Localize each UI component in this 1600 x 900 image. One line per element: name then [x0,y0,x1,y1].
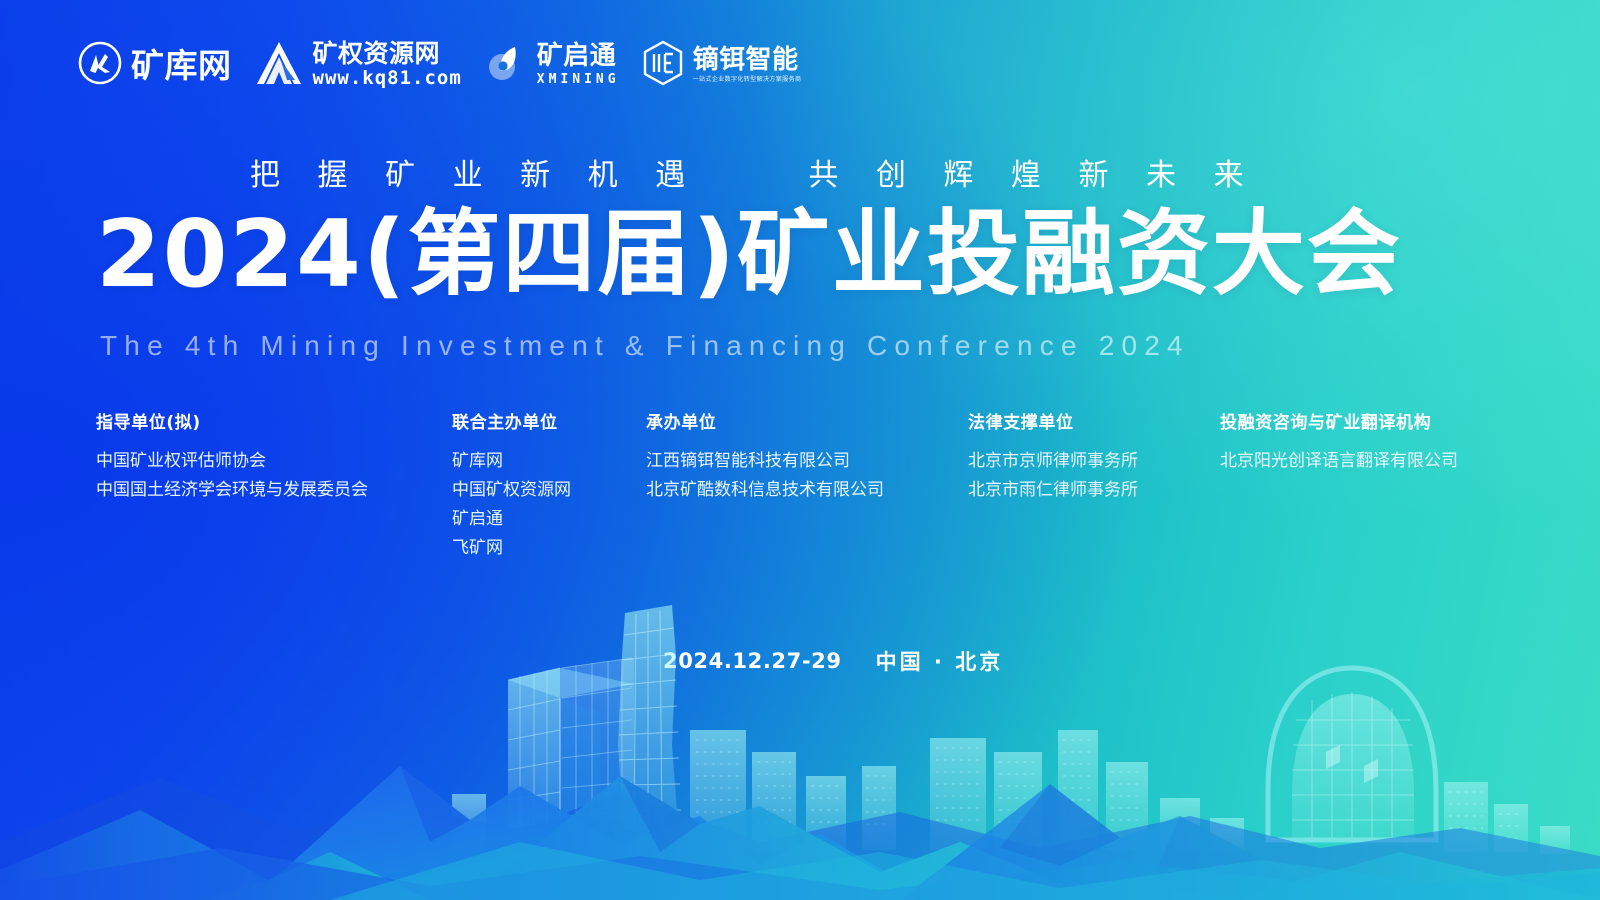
org-item: 北京市雨仁律师事务所 [968,476,1138,505]
org-column-legal-support: 法律支撑单位 北京市京师律师事务所 北京市雨仁律师事务所 [968,408,1138,505]
xmining-circle-icon [484,41,528,90]
logo-xmining[interactable]: 矿启通 XMINING [484,34,620,96]
logo-xmining-name: 矿启通 [537,43,620,70]
dier-hexagon-icon [642,40,684,91]
logo-dier-tagline: 一站式企业数字化转型解决方案服务商 [693,77,802,84]
logo-kuangquan-ziyuanwang[interactable]: 矿权资源网 www.kq81.com [254,34,462,96]
organization-columns: 指导单位(拟) 中国矿业权评估师协会 中国国土经济学会环境与发展委员会 联合主办… [0,408,1600,558]
org-heading: 联合主办单位 [452,408,571,433]
page-subtitle-english: The 4th Mining Investment & Financing Co… [100,330,1190,362]
logo-kuangkuwang-name: 矿库网 [131,49,232,82]
org-column-advisory-translation: 投融资咨询与矿业翻译机构 北京阳光创译语言翻译有限公司 [1220,408,1458,476]
org-item: 中国矿权资源网 [452,476,571,505]
logo-xmining-sub: XMINING [537,73,620,87]
org-heading: 指导单位(拟) [96,408,368,433]
logo-kuangkuwang[interactable]: 矿库网 [78,34,232,96]
kuangquan-mountain-icon [254,39,304,92]
org-heading: 法律支撑单位 [968,408,1138,433]
org-item: 矿库网 [452,447,571,476]
page-title: 2024(第四届)矿业投融资大会 [96,206,1402,304]
event-slogan: 把 握 矿 业 新 机 遇 共 创 辉 煌 新 未 来 [250,150,1258,194]
slogan-right: 共 创 辉 煌 新 未 来 [808,158,1257,193]
org-column-co-hosts: 联合主办单位 矿库网 中国矿权资源网 矿启通 飞矿网 [452,408,571,563]
kuangkuwang-circle-k-icon [78,41,122,90]
phoenix-center-icon [1268,668,1436,840]
org-item: 北京市京师律师事务所 [968,447,1138,476]
conference-poster: 矿库网 矿权资源网 www.kq81.com [0,0,1600,900]
logo-kuangquan-url: www.kq81.com [313,68,462,89]
org-item: 矿启通 [452,505,571,534]
org-item: 中国矿业权评估师协会 [96,447,368,476]
org-column-organizers: 承办单位 江西镝铒智能科技有限公司 北京矿酷数科信息技术有限公司 [646,408,884,505]
beijing-skyline-scenery [0,580,1600,900]
org-item: 飞矿网 [452,534,571,563]
logo-dier-zhineng[interactable]: 镝铒智能 一站式企业数字化转型解决方案服务商 [642,34,802,96]
logo-dier-name: 镝铒智能 [693,47,802,74]
org-item: 中国国土经济学会环境与发展委员会 [96,476,368,505]
org-item: 北京阳光创译语言翻译有限公司 [1220,447,1458,476]
sponsor-logo-bar: 矿库网 矿权资源网 www.kq81.com [78,34,801,96]
org-heading: 投融资咨询与矿业翻译机构 [1220,408,1458,433]
org-item: 北京矿酷数科信息技术有限公司 [646,476,884,505]
logo-kuangquan-name: 矿权资源网 [313,41,462,67]
slogan-left: 把 握 矿 业 新 机 遇 [250,158,699,193]
org-column-guidance: 指导单位(拟) 中国矿业权评估师协会 中国国土经济学会环境与发展委员会 [96,408,368,505]
org-item: 江西镝铒智能科技有限公司 [646,447,884,476]
org-heading: 承办单位 [646,408,884,433]
